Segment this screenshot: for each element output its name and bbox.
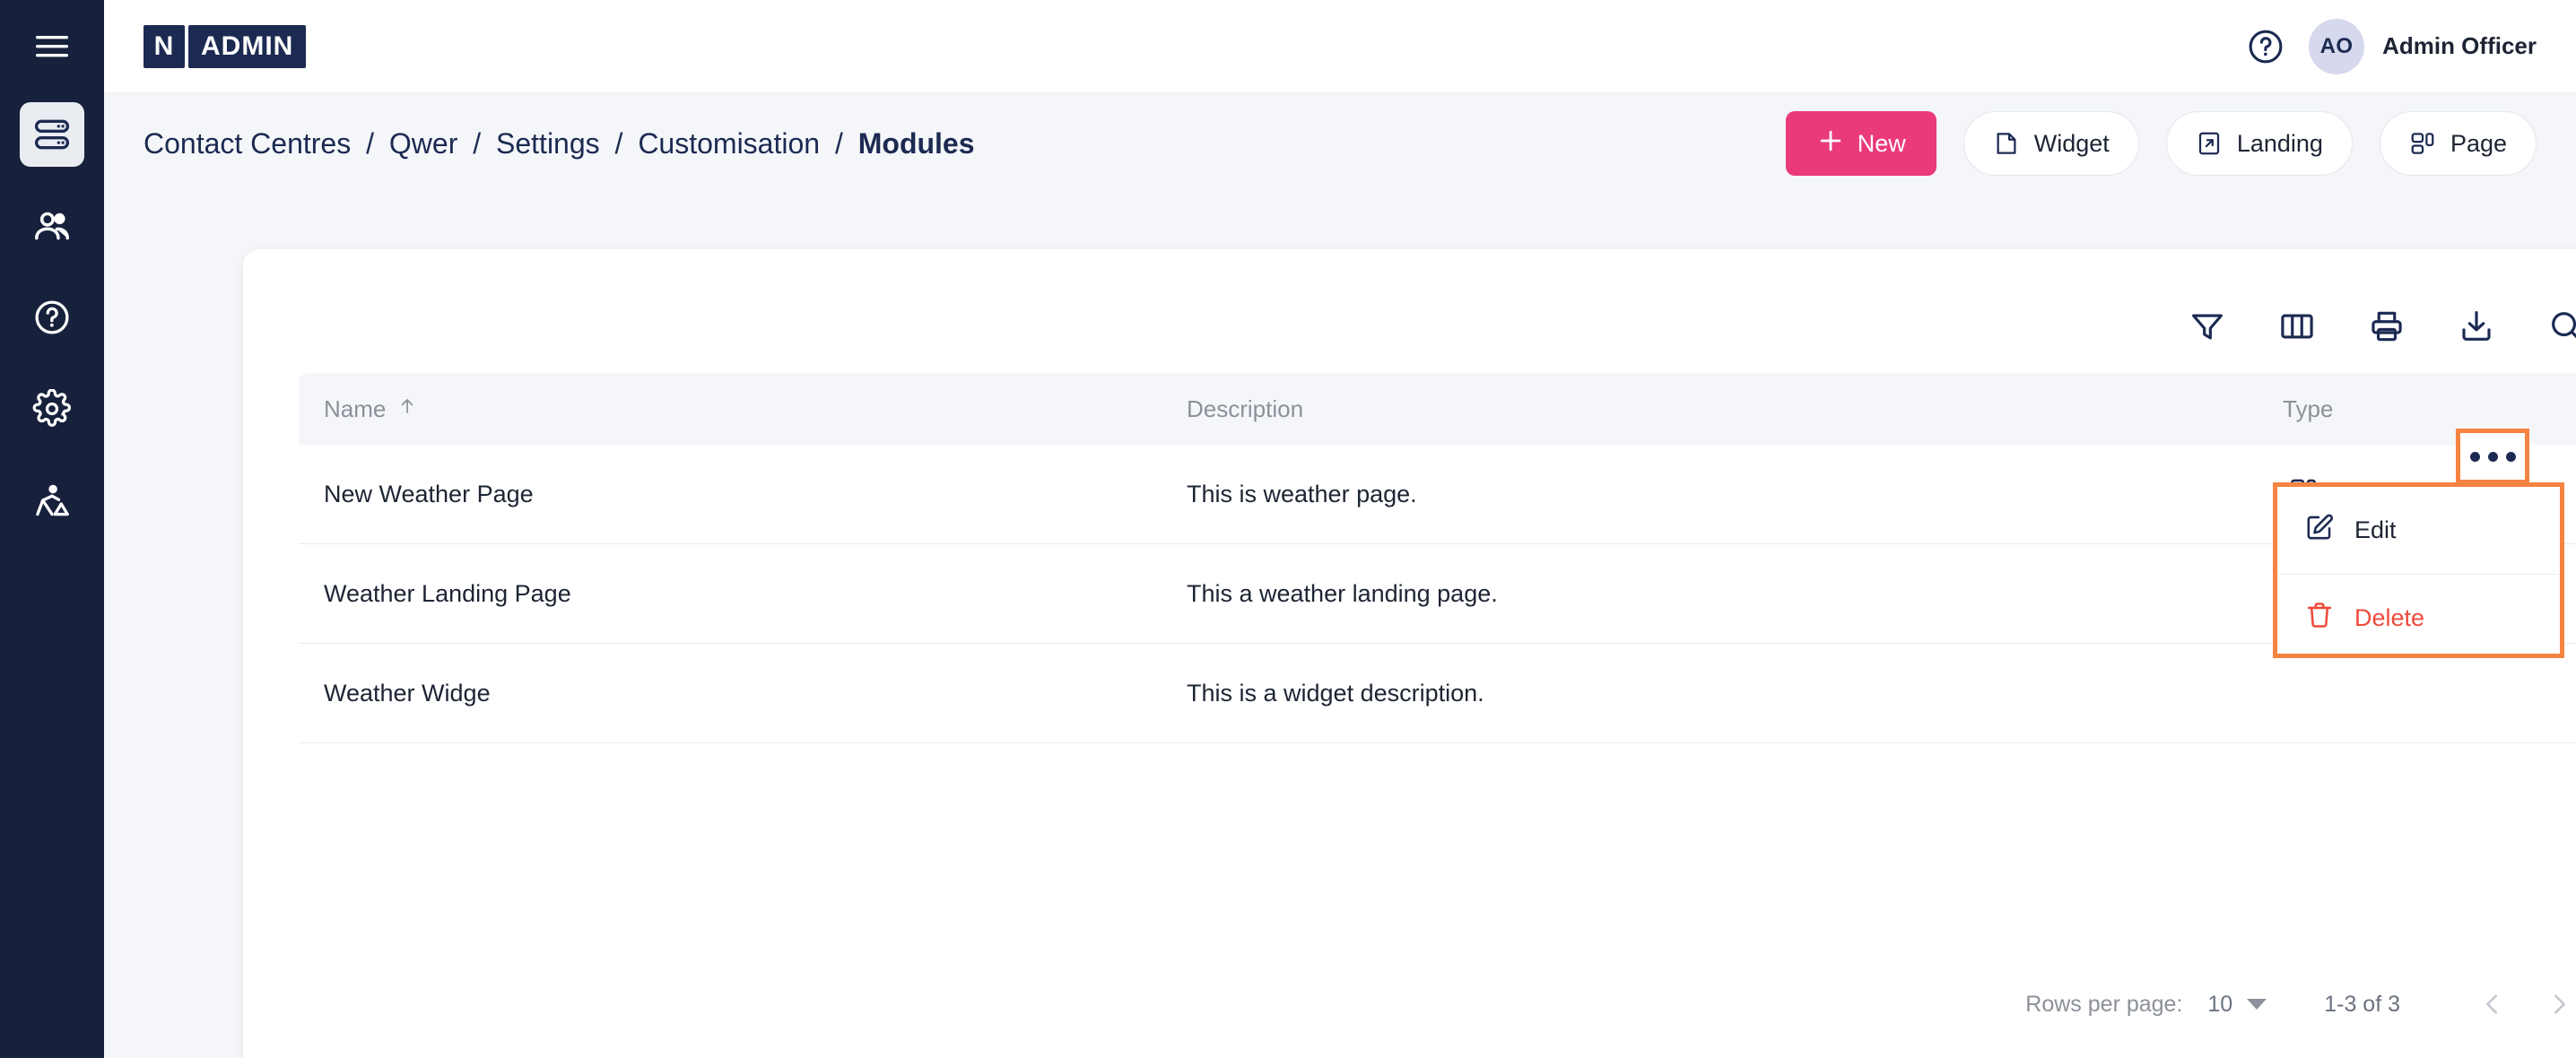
gear-icon: [32, 389, 72, 429]
page-button-label: Page: [2450, 130, 2507, 158]
table-row[interactable]: Weather Widge This is a widget descripti…: [299, 644, 2576, 743]
sidebar-item-construction[interactable]: [20, 468, 84, 533]
more-horizontal-icon: [2470, 452, 2516, 462]
download-icon[interactable]: [2458, 308, 2495, 345]
rows-per-page-label: Rows per page:: [2025, 992, 2182, 1018]
avatar: AO: [2309, 19, 2364, 74]
pagination: Rows per page: 10 1-3 of 3: [2025, 977, 2576, 1031]
table-row[interactable]: New Weather Page This is weather page.: [299, 445, 2576, 544]
column-header-name[interactable]: Name: [299, 395, 1187, 423]
sidebar-item-users[interactable]: [20, 194, 84, 258]
cell-description: This a weather landing page.: [1187, 580, 2283, 608]
sidebar-item-server[interactable]: [20, 102, 84, 167]
breadcrumb-item-3[interactable]: Customisation: [638, 127, 820, 160]
column-header-type[interactable]: Type: [2283, 395, 2576, 423]
widget-icon: [1993, 130, 2020, 157]
new-button[interactable]: New: [1786, 111, 1936, 176]
app-logo[interactable]: N ADMIN: [144, 25, 306, 68]
filter-icon[interactable]: [2189, 308, 2226, 345]
widget-button[interactable]: Widget: [1963, 111, 2139, 176]
column-header-description[interactable]: Description: [1187, 395, 2283, 423]
rows-per-page-select[interactable]: 10: [2207, 992, 2267, 1018]
pagination-prev-button[interactable]: [2459, 977, 2526, 1031]
app-root: N ADMIN AO Admin Officer Contact Centres…: [0, 0, 2576, 1058]
page-button[interactable]: Page: [2380, 111, 2537, 176]
landing-button[interactable]: Landing: [2166, 111, 2353, 176]
external-link-icon: [2196, 130, 2223, 157]
breadcrumb-separator: /: [473, 127, 481, 160]
print-icon[interactable]: [2368, 308, 2406, 345]
breadcrumb-separator: /: [615, 127, 623, 160]
logo-mark: N: [144, 25, 185, 68]
arrow-up-icon: [396, 395, 418, 423]
chevron-down-icon: [2247, 999, 2267, 1010]
menu-item-delete[interactable]: Delete: [2277, 574, 2560, 661]
widget-button-label: Widget: [2034, 130, 2110, 158]
page-header: Contact Centres / Qwer / Settings / Cust…: [104, 93, 2576, 194]
sidebar-item-help[interactable]: [20, 285, 84, 350]
trash-icon: [2304, 600, 2335, 637]
question-circle-icon[interactable]: [2246, 27, 2285, 66]
row-actions-menu-button-highlighted[interactable]: [2456, 429, 2529, 484]
cell-description: This is weather page.: [1187, 481, 2283, 508]
breadcrumb: Contact Centres / Qwer / Settings / Cust…: [144, 127, 975, 160]
table-header-row: Name Description Type: [299, 373, 2576, 445]
cell-name: Weather Widge: [299, 680, 1187, 707]
pagination-next-button[interactable]: [2526, 977, 2576, 1031]
logo-text: ADMIN: [188, 25, 306, 68]
modules-card: Name Description Type: [243, 249, 2576, 1058]
columns-icon[interactable]: [2278, 308, 2316, 345]
edit-pencil-icon: [2304, 512, 2335, 549]
table-toolbar: [243, 249, 2576, 362]
column-header-description-label: Description: [1187, 395, 1303, 423]
server-icon: [32, 115, 72, 154]
rows-per-page-value: 10: [2207, 992, 2232, 1018]
search-icon[interactable]: [2547, 308, 2576, 345]
menu-item-delete-label: Delete: [2354, 604, 2424, 632]
menu-item-edit-label: Edit: [2354, 516, 2397, 544]
top-bar-right: AO Admin Officer: [2246, 19, 2537, 74]
menu-item-edit[interactable]: Edit: [2277, 487, 2560, 574]
users-icon: [32, 206, 72, 246]
cell-name: Weather Landing Page: [299, 580, 1187, 608]
user-menu[interactable]: AO Admin Officer: [2309, 19, 2537, 74]
breadcrumb-item-1[interactable]: Qwer: [389, 127, 457, 160]
sidebar-item-settings[interactable]: [20, 377, 84, 441]
user-name: Admin Officer: [2382, 32, 2537, 60]
breadcrumb-item-2[interactable]: Settings: [496, 127, 600, 160]
hamburger-menu-icon[interactable]: [0, 0, 104, 93]
page-body: Contact Centres / Qwer / Settings / Cust…: [104, 93, 2576, 1058]
modules-table: Name Description Type: [299, 373, 2576, 743]
row-actions-dropdown: Edit Delete: [2273, 482, 2564, 658]
landing-button-label: Landing: [2237, 130, 2323, 158]
header-actions: New Widget: [1786, 111, 2537, 176]
breadcrumb-separator: /: [835, 127, 843, 160]
construction-icon: [32, 481, 72, 520]
pagination-range: 1-3 of 3: [2324, 992, 2400, 1018]
column-header-type-label: Type: [2283, 395, 2333, 423]
left-sidebar: [0, 0, 104, 1058]
layout-icon: [2409, 130, 2436, 157]
help-circle-icon: [32, 298, 72, 337]
cell-description: This is a widget description.: [1187, 680, 2283, 707]
table-row[interactable]: Weather Landing Page This a weather land…: [299, 544, 2576, 644]
top-bar: N ADMIN AO Admin Officer: [104, 0, 2576, 93]
column-header-name-label: Name: [324, 395, 386, 423]
breadcrumb-item-0[interactable]: Contact Centres: [144, 127, 351, 160]
new-button-label: New: [1858, 130, 1906, 158]
breadcrumb-separator: /: [366, 127, 374, 160]
cell-name: New Weather Page: [299, 481, 1187, 508]
breadcrumb-current: Modules: [858, 127, 975, 160]
plus-icon: [1816, 126, 1845, 161]
